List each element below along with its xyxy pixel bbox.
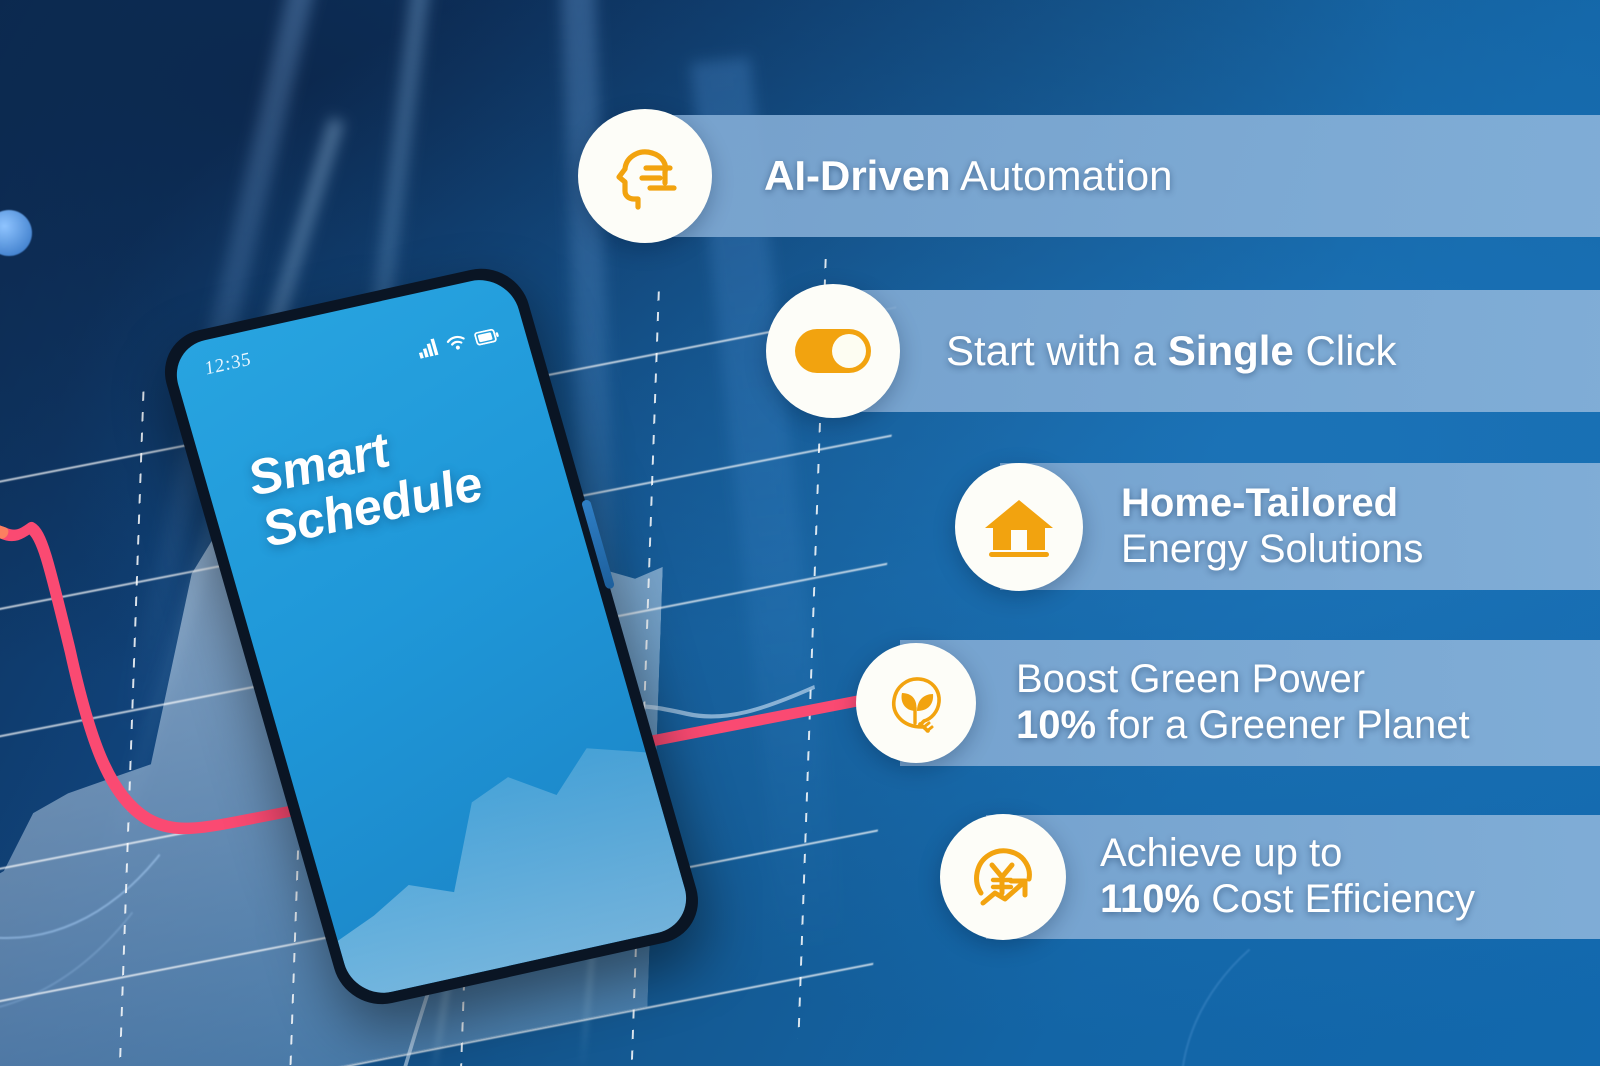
yen-growth-icon	[967, 841, 1039, 913]
feature-label: AI-Driven Automation	[764, 152, 1173, 200]
icon-badge	[578, 109, 712, 243]
feature-label: Achieve up to 110% Cost Efficiency	[1100, 831, 1475, 922]
battery-icon	[473, 328, 500, 347]
feature-label: Start with a Single Click	[946, 327, 1396, 375]
feature-label-normal: Automation	[951, 152, 1173, 199]
icon-badge	[856, 643, 976, 763]
feature-row-boost-green-power[interactable]: Boost Green Power 10% for a Greener Plan…	[856, 640, 1600, 766]
chart-line-energy-highlight	[0, 521, 3, 801]
feature-label-bold: Single	[1168, 327, 1294, 374]
wifi-icon	[444, 333, 468, 353]
status-bar-icons	[416, 325, 501, 359]
feature-label-line-2: Energy Solutions	[1121, 527, 1423, 573]
feature-row-single-click[interactable]: Start with a Single Click	[766, 290, 1600, 412]
feature-label-pre: Start with a	[946, 327, 1168, 374]
signal-icon	[416, 338, 440, 359]
promo-graphic: 12:35 Smart Schedule	[0, 0, 1600, 1066]
feature-label-normal: for a Greener Planet	[1096, 703, 1470, 747]
toggle-on-icon	[794, 328, 872, 374]
feature-label-bold: AI-Driven	[764, 152, 951, 199]
status-bar-time: 12:35	[202, 349, 254, 380]
feature-label-line-1: Home-Tailored	[1121, 481, 1398, 525]
icon-badge	[955, 463, 1083, 591]
feature-label-line-1: Achieve up to	[1100, 831, 1475, 877]
feature-row-ai-driven-automation[interactable]: AI-Driven Automation	[578, 115, 1600, 237]
home-icon	[983, 494, 1055, 560]
icon-badge	[766, 284, 900, 418]
icon-badge	[940, 814, 1066, 940]
phone-screen-title: Smart Schedule	[242, 392, 555, 557]
feature-label-bold: 110%	[1100, 877, 1200, 921]
feature-label-line-1: Boost Green Power	[1016, 657, 1470, 703]
ai-head-icon	[608, 139, 682, 213]
feature-label-normal: Cost Efficiency	[1200, 877, 1475, 921]
eco-plug-icon	[882, 669, 950, 737]
feature-label: Home-Tailored Energy Solutions	[1121, 481, 1423, 572]
feature-label-bold: 10%	[1016, 703, 1096, 747]
feature-label: Boost Green Power 10% for a Greener Plan…	[1016, 657, 1470, 748]
feature-label-normal: Click	[1294, 327, 1397, 374]
feature-row-home-tailored-energy[interactable]: Home-Tailored Energy Solutions	[955, 463, 1600, 590]
feature-row-cost-efficiency[interactable]: Achieve up to 110% Cost Efficiency	[940, 815, 1600, 939]
